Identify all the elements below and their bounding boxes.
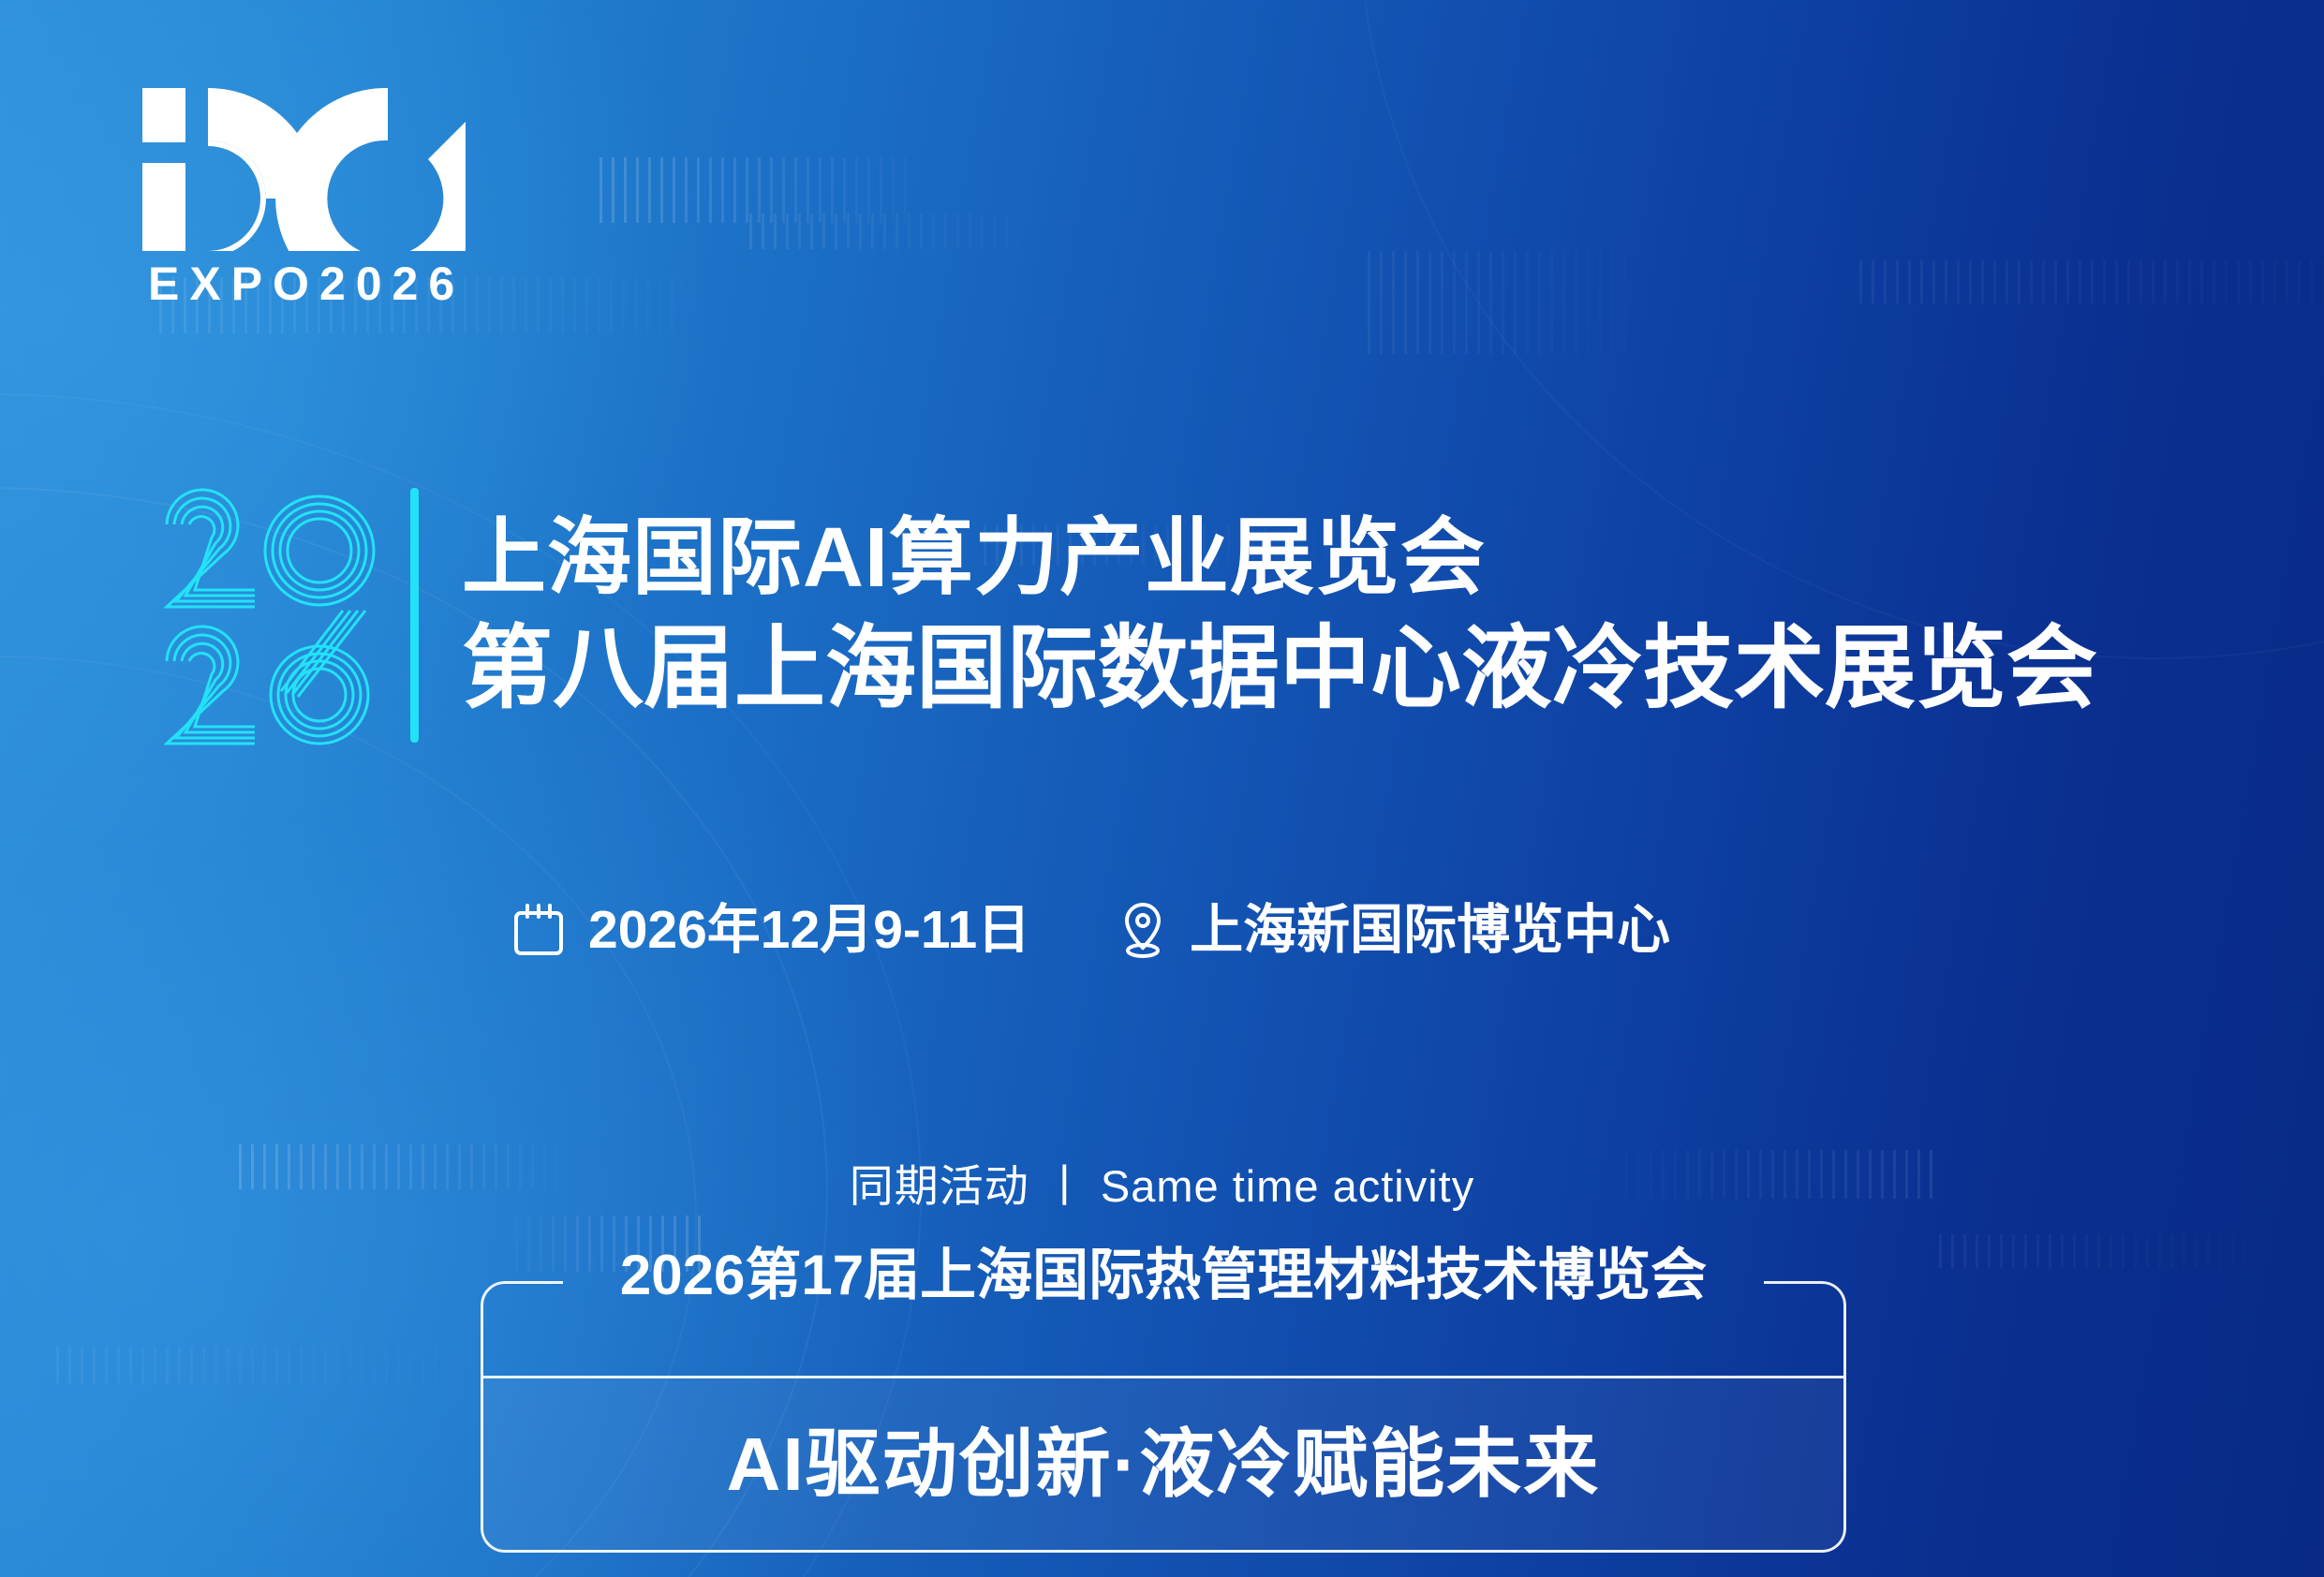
idc-monogram-icon [142, 82, 466, 251]
event-date: 2026年12月9-11日 [513, 904, 1030, 957]
same-time-activity-label: 同期活动 丨 Same time activity [0, 1150, 2324, 1215]
headline-accent-divider [410, 488, 419, 743]
decorative-bar-cluster [749, 214, 1030, 249]
year-2026-line-art [157, 479, 382, 751]
headline-titles: 上海国际AI算力产业展览会 第八届上海国际数据中心液冷技术展览会 [462, 508, 2097, 723]
event-title-secondary: 第八届上海国际数据中心液冷技术展览会 [462, 615, 2097, 722]
logo-wordmark: EXPO2026 [148, 260, 466, 307]
event-meta-row: 2026年12月9-11日 上海新国际博览中心 [513, 901, 1670, 959]
calendar-icon [513, 904, 564, 956]
concurrent-expo-title: 2026第17届上海国际热管理材料技术博览会 [481, 1247, 1846, 1304]
slogan-panel: AI驱动创新·液冷赋能未来 [483, 1378, 1843, 1550]
event-slogan: AI驱动创新·液冷赋能未来 [727, 1427, 1601, 1502]
decorative-bar-cluster [1939, 1234, 2248, 1268]
decorative-bar-cluster [600, 157, 909, 223]
event-poster: EXPO2026 [0, 0, 2324, 1577]
concurrent-expo-frame: 2026第17届上海国际热管理材料技术博览会 AI驱动创新·液冷赋能未来 [481, 1281, 1846, 1553]
decorative-bar-cluster [1859, 260, 2324, 303]
event-venue-text: 上海新国际博览中心 [1190, 904, 1670, 957]
event-title-primary: 上海国际AI算力产业展览会 [462, 508, 2097, 608]
headline-block: 上海国际AI算力产业展览会 第八届上海国际数据中心液冷技术展览会 [157, 479, 2097, 751]
event-date-text: 2026年12月9-11日 [588, 904, 1030, 957]
decorative-bar-cluster [1368, 251, 1639, 354]
decorative-bar-cluster [56, 1347, 450, 1384]
location-pin-icon [1120, 901, 1165, 959]
event-venue: 上海新国际博览中心 [1120, 901, 1670, 959]
idc-expo-logo: EXPO2026 [142, 82, 466, 307]
